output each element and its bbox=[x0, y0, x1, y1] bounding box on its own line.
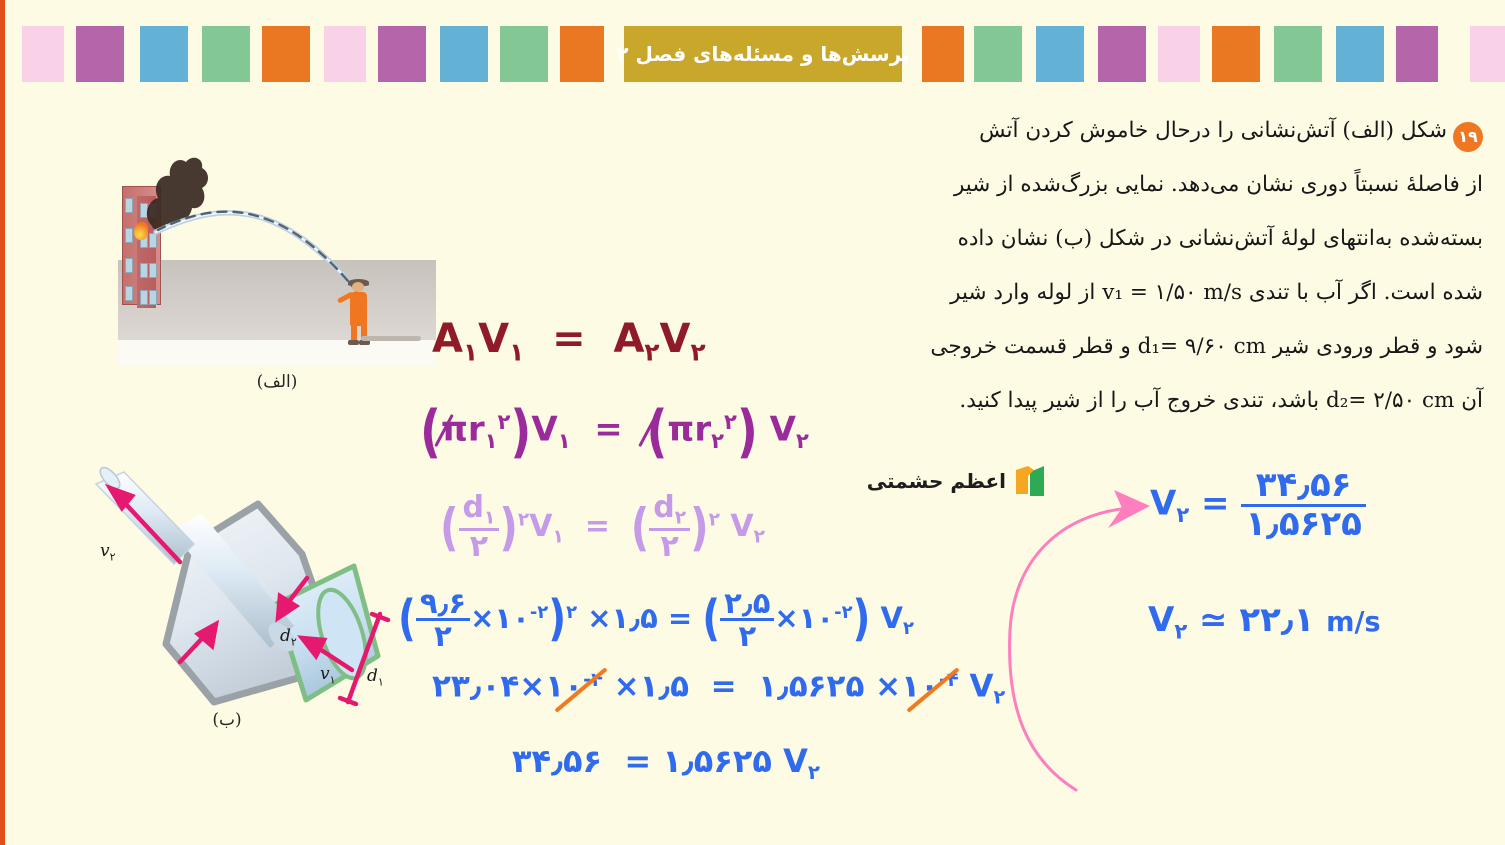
label-v2: v۲ bbox=[100, 541, 116, 563]
label-d2: d۲ bbox=[280, 626, 297, 648]
problem-line-3: بسته‌شده به‌انتهای لولهٔ آتش‌نشانی در شک… bbox=[953, 212, 1483, 266]
header-color-swatch bbox=[324, 26, 366, 82]
header-color-swatch bbox=[1212, 26, 1260, 82]
firefighter-boot bbox=[348, 340, 359, 345]
author-watermark: اعظم حشمتی bbox=[858, 458, 1048, 504]
header-color-swatch bbox=[1470, 26, 1505, 82]
header-color-swatch bbox=[560, 26, 604, 82]
figure-a-caption: (الف) bbox=[118, 372, 436, 392]
figure-a-vector-layer bbox=[118, 140, 436, 365]
problem-line-6: آن d₂= ۲/۵۰ cm باشد، تندی خروج آب را از … bbox=[953, 374, 1483, 428]
flame-icon bbox=[134, 222, 148, 240]
author-name: اعظم حشمتی bbox=[867, 469, 1006, 493]
header-color-swatch bbox=[76, 26, 124, 82]
problem-line-5: شود و قطر ورودی شیر d₁= ۹/۶۰ cm و قطر قس… bbox=[953, 320, 1483, 374]
water-jet-stream bbox=[156, 213, 361, 296]
header-color-swatch bbox=[974, 26, 1022, 82]
header-color-swatch bbox=[22, 26, 64, 82]
header-color-swatch bbox=[1098, 26, 1146, 82]
header-color-swatch bbox=[440, 26, 488, 82]
header-color-swatch bbox=[922, 26, 964, 82]
fire-hose bbox=[361, 336, 421, 341]
brand-logo-icon bbox=[1014, 464, 1048, 498]
pink-connector-arrow bbox=[980, 460, 1220, 800]
problem-line-4: شده است. اگر آب با تندی v₁ = ۱/۵۰ m/s از… bbox=[953, 266, 1483, 320]
solution-line-6: ۳۴٫۵۶ = ۱٫۵۶۲۵ V۲ bbox=[512, 742, 820, 784]
header-color-swatch bbox=[202, 26, 250, 82]
document-page: پرسش‌ها و مسئله‌های فصل ۲ ۱۹شکل (الف) آت… bbox=[0, 0, 1505, 845]
problem-line-2: از فاصلهٔ نسبتاً دوری نشان می‌دهد. نمایی… bbox=[953, 158, 1483, 212]
figure-a-firefighter bbox=[118, 140, 436, 365]
problem-number-badge: ۱۹ bbox=[1453, 122, 1483, 152]
water-jet-highlight bbox=[156, 213, 361, 296]
header-color-swatch bbox=[140, 26, 188, 82]
nozzle-vector-layer bbox=[62, 466, 392, 716]
header-color-swatch bbox=[262, 26, 310, 82]
figure-b-caption: (ب) bbox=[62, 710, 392, 730]
header-color-swatch bbox=[1036, 26, 1084, 82]
header-color-swatch bbox=[1158, 26, 1200, 82]
header-color-swatch bbox=[500, 26, 548, 82]
header-color-swatch bbox=[1396, 26, 1438, 82]
figure-b-nozzle: v۲ d۲ v۱ d۱ bbox=[62, 466, 392, 726]
solution-line-3: (d۱۲)۲V۱ = (d۲۲)۲ V۲ bbox=[440, 492, 765, 563]
solution-line-1: A۱V۱ = A۲V۲ bbox=[432, 316, 706, 367]
solution-line-4: (۹٫۶۲×۱۰-۲)۲ ×۱٫۵ = (۲٫۵۲×۱۰-۲) V۲ bbox=[398, 588, 914, 652]
problem-line-1: شکل (الف) آتش‌نشانی را درحال خاموش کردن … bbox=[979, 118, 1447, 143]
header-color-swatch bbox=[1274, 26, 1322, 82]
label-v1: v۱ bbox=[320, 664, 336, 686]
chapter-banner: پرسش‌ها و مسئله‌های فصل ۲ bbox=[624, 26, 902, 82]
header-color-swatch bbox=[378, 26, 426, 82]
label-d1: d۱ bbox=[367, 666, 384, 688]
page-edge-strip bbox=[0, 0, 5, 845]
problem-statement: ۱۹شکل (الف) آتش‌نشانی را درحال خاموش کرد… bbox=[953, 104, 1483, 428]
firefighter-body bbox=[350, 292, 367, 326]
chapter-banner-title: پرسش‌ها و مسئله‌های فصل ۲ bbox=[616, 42, 909, 66]
firefighter-head bbox=[352, 282, 364, 292]
solution-line-2: (πr۱۲)V۱ = (πr۲۲) V۲ bbox=[420, 404, 809, 458]
trajectory-dashed-line bbox=[158, 212, 358, 293]
header-color-swatch bbox=[1336, 26, 1384, 82]
firefighter-leg bbox=[351, 322, 357, 342]
